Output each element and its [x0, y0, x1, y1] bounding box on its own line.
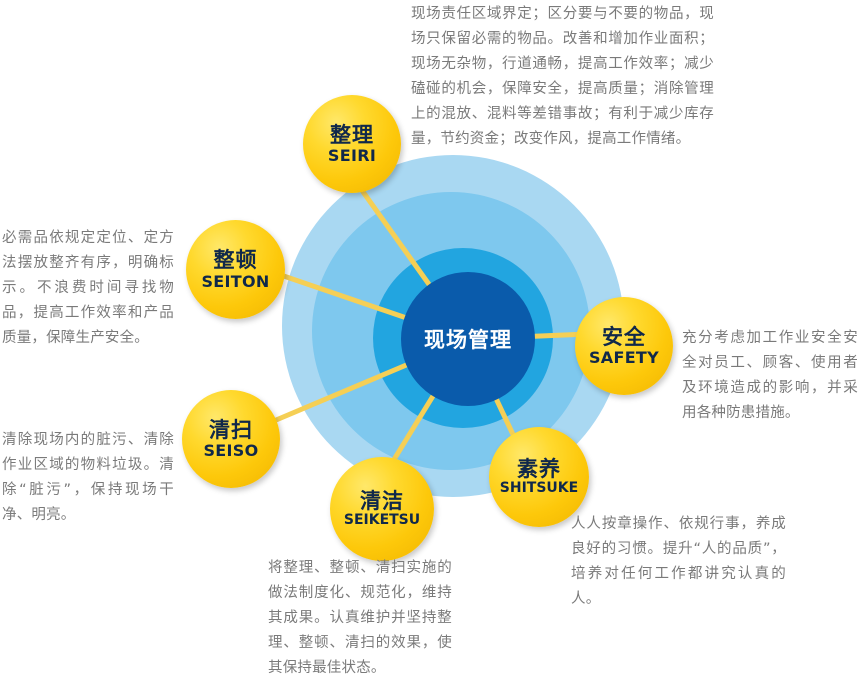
node-seiso-cn-label: 清扫	[209, 419, 253, 442]
hub-label: 现场管理	[424, 324, 512, 354]
node-seiton[interactable]: 整顿 SEITON	[186, 220, 285, 319]
node-safety[interactable]: 安全 SAFETY	[575, 297, 673, 395]
node-safety-cn-label: 安全	[602, 326, 646, 349]
node-seiri[interactable]: 整理 SEIRI	[303, 95, 401, 193]
node-seiri-cn-label: 整理	[330, 124, 374, 147]
description-seiton: 必需品依规定定位、定方法摆放整齐有序，明确标示。不浪费时间寻找物品，提高工作效率…	[2, 226, 174, 351]
node-seiketsu-en-label: SEIKETSU	[344, 513, 420, 528]
node-seiton-cn-label: 整顿	[214, 249, 258, 272]
node-seiketsu[interactable]: 清洁 SEIKETSU	[330, 457, 434, 561]
description-safety: 充分考虑加工作业安全安全对员工、顾客、使用者及环境造成的影响，并采用各种防患措施…	[682, 326, 858, 426]
node-shitsuke-en-label: SHITSUKE	[500, 481, 578, 496]
node-seiketsu-cn-label: 清洁	[360, 490, 404, 513]
description-seiso: 清除现场内的脏污、清除作业区域的物料垃圾。清除“脏污”，保持现场干净、明亮。	[2, 428, 174, 528]
hub-circle[interactable]: 现场管理	[401, 272, 535, 406]
description-seiri: 现场责任区域界定；区分要与不要的物品，现场只保留必需的物品。改善和增加作业面积；…	[411, 2, 714, 152]
node-seiri-en-label: SEIRI	[328, 147, 376, 164]
node-seiso[interactable]: 清扫 SEISO	[182, 390, 280, 488]
node-shitsuke-cn-label: 素养	[517, 458, 561, 481]
node-seiso-en-label: SEISO	[203, 442, 258, 459]
node-safety-en-label: SAFETY	[589, 349, 659, 366]
node-seiton-en-label: SEITON	[201, 273, 269, 290]
description-shitsuke: 人人按章操作、依规行事，养成良好的习惯。提升“人的品质”，培养对任何工作都讲究认…	[571, 512, 786, 612]
diagram-canvas: 现场管理 整理 SEIRI 整顿 SEITON 清扫 SEISO 清洁 SEIK…	[0, 0, 863, 675]
description-seiketsu: 将整理、整顿、清扫实施的做法制度化、规范化，维持其成果。认真维护并坚持整理、整顿…	[268, 556, 452, 681]
